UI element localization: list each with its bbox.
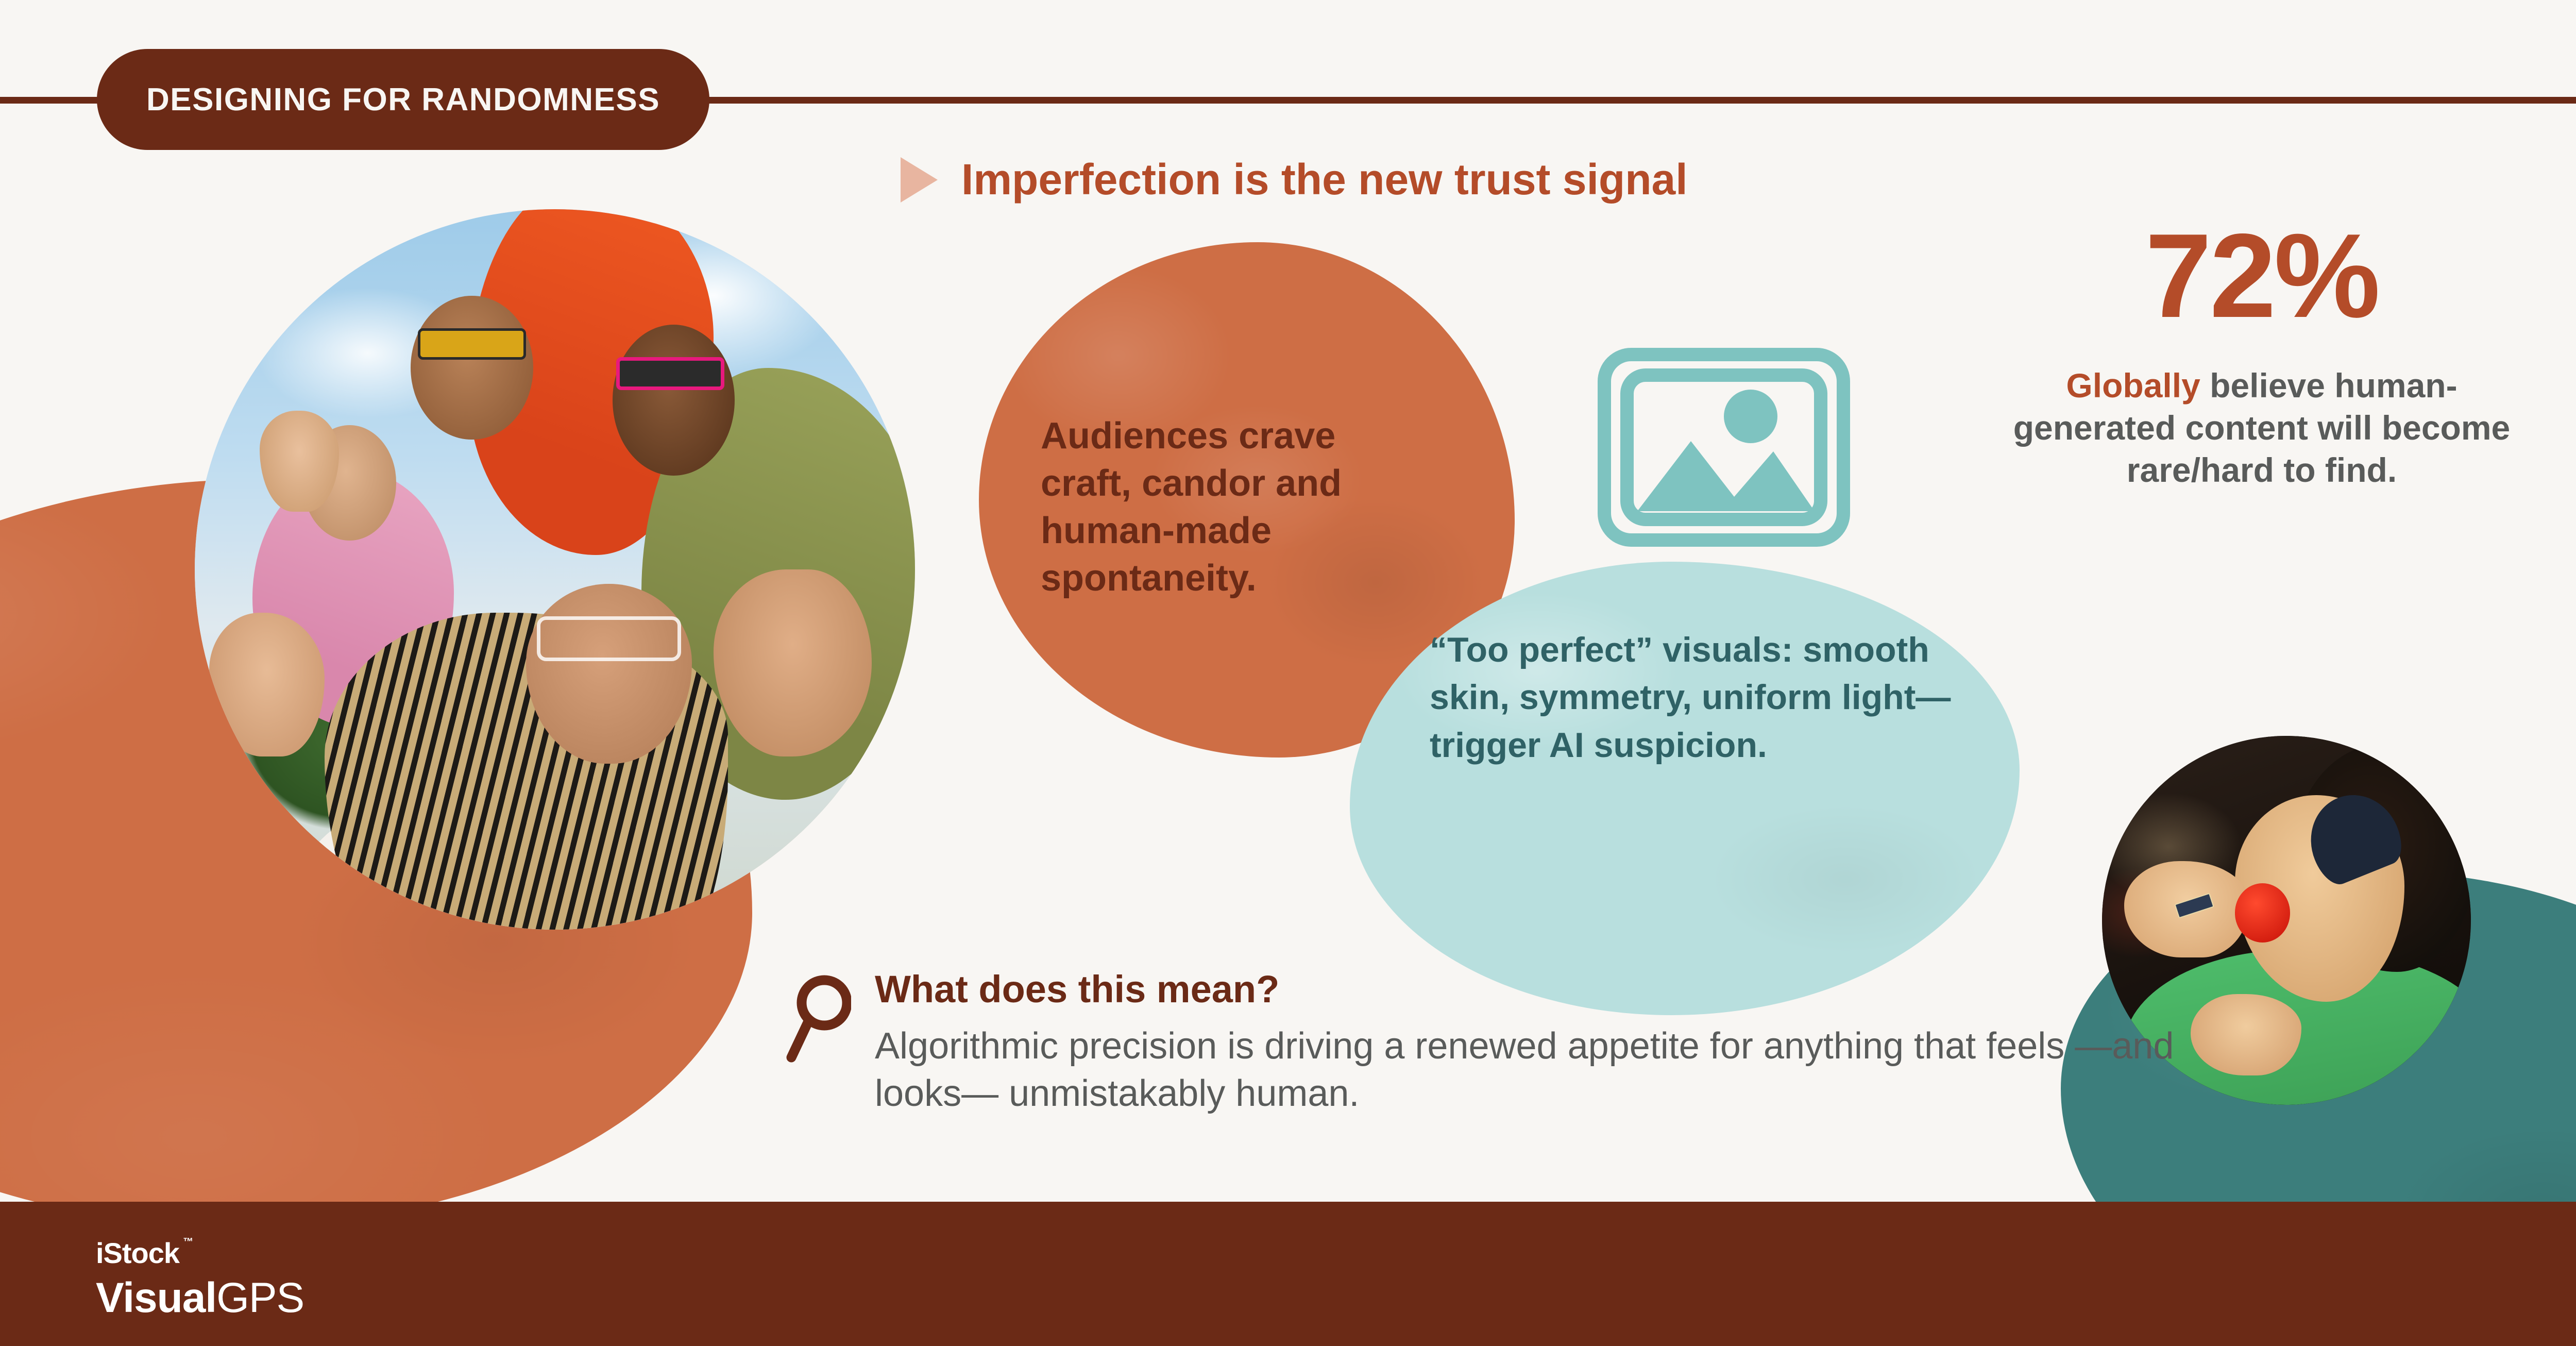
headline: Imperfection is the new trust signal [901,155,1688,205]
insight-body: What does this mean? Algorithmic precisi… [875,969,2225,1117]
photo-pink-sunglasses [616,357,724,390]
photo-face-back-left [411,296,533,440]
photo-red-tomato [2235,883,2290,943]
logo-istock-text: iStock [96,1237,179,1269]
photo-hand-right [714,569,872,756]
insight-title: What does this mean? [875,969,2225,1010]
stat-caption: Globally believe human-generated content… [1989,365,2535,491]
photo-face-back-right [613,325,735,476]
picture-placeholder-icon [1596,346,1852,548]
logo-gps-text: GPS [216,1274,304,1321]
callout-teal-text: “Too perfect” visuals: smooth skin, symm… [1430,626,1986,769]
insight-text: Algorithmic precision is driving a renew… [875,1022,2225,1117]
headline-text: Imperfection is the new trust signal [961,155,1688,205]
infographic-canvas: DESIGNING FOR RANDOMNESS Imperfection is… [0,0,2576,1346]
stat-caption-highlight: Globally [2066,366,2200,405]
magnifier-icon [783,971,851,1069]
stat-block: 72% Globally believe human-generated con… [1989,216,2535,491]
footer-bar [0,1202,2576,1346]
trademark-icon: ™ [183,1237,193,1247]
triangle-right-icon [901,157,938,203]
stat-percentage: 72% [1989,216,2535,336]
insight-section: What does this mean? Algorithmic precisi… [783,969,2225,1117]
brand-logo: iStock™ VisualGPS [96,1239,304,1319]
logo-visualgps: VisualGPS [96,1277,304,1319]
logo-visual-text: Visual [96,1274,216,1321]
section-badge: DESIGNING FOR RANDOMNESS [97,49,709,150]
photo-friends-group [195,209,915,930]
photo-clear-eyeglasses [537,616,681,661]
callout-orange-text: Audiences crave craft, candor and human-… [1041,412,1432,602]
section-badge-label: DESIGNING FOR RANDOMNESS [146,81,660,118]
logo-istock: iStock™ [96,1239,179,1268]
photo-hand-waving [260,411,339,512]
photo-amber-sunglasses [418,328,526,360]
